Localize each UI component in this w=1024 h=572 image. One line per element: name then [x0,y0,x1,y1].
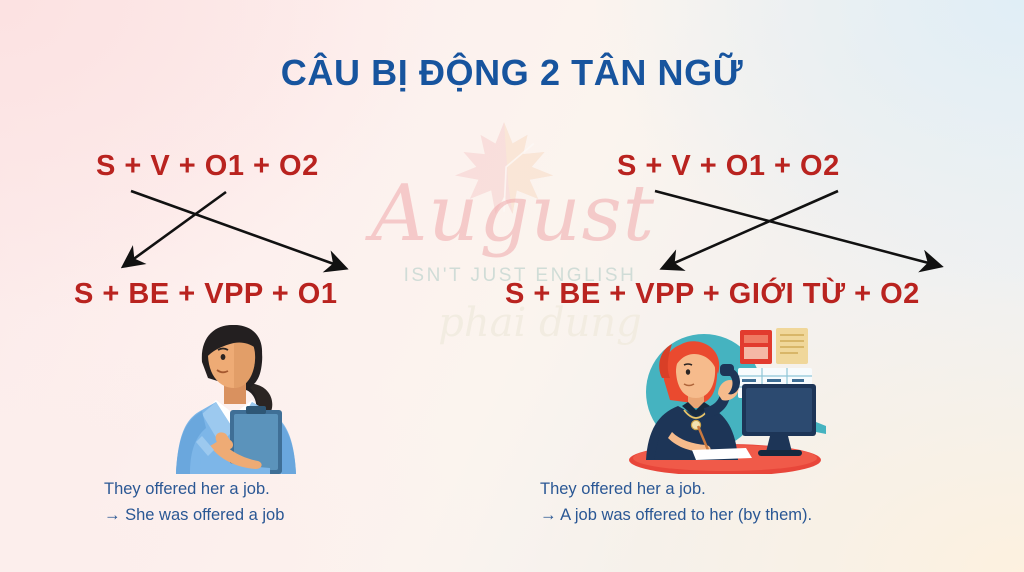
right-example-active: They offered her a job. [540,480,706,498]
right-example-passive: → A job was offered to her (by them). [540,503,812,529]
arrow-right-subject-to-object [655,191,940,266]
woman-on-phone-at-desk-illustration [620,322,830,474]
woman-with-clipboard-illustration [150,318,320,474]
left-example-active: They offered her a job. [104,480,270,498]
right-example-caption: They offered her a job. → A job was offe… [540,477,812,528]
left-example-caption: They offered her a job. → She was offere… [104,477,284,528]
left-example-passive: → She was offered a job [104,503,284,529]
slide-canvas: August ISN'T JUST ENGLISH phai dung CÂU … [0,0,1024,572]
arrow-right-o2-to-subject [663,191,838,268]
arrow-left-subject-to-object [131,191,345,268]
arrow-left-o1-to-subject [124,192,226,266]
